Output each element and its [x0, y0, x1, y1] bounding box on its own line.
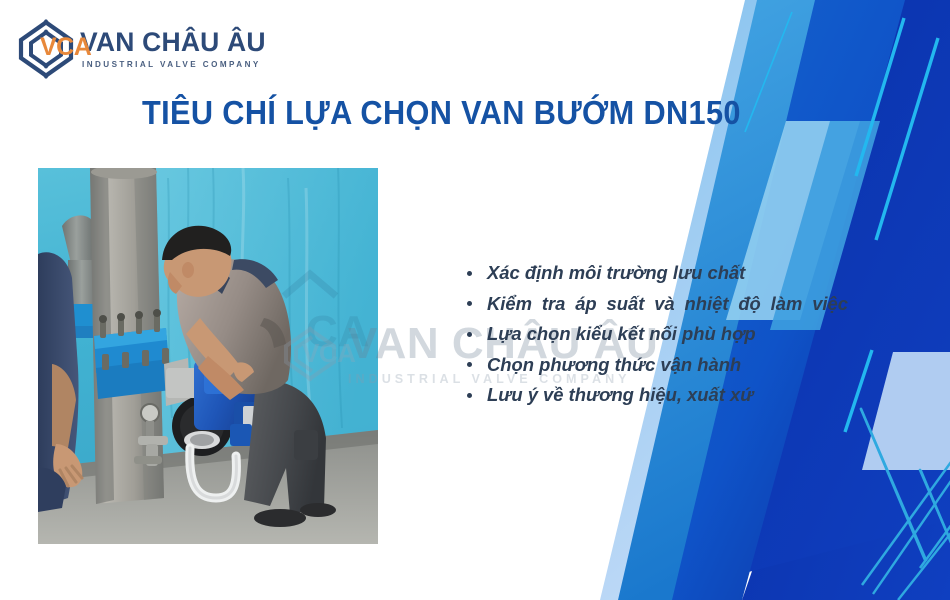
vca-diamond-logo-icon: VCA [14, 18, 76, 80]
logo-wordmark: VAN CHÂU ÂU INDUSTRIAL VALVE COMPANY [80, 29, 266, 69]
ribbon-lower-light [862, 352, 950, 470]
cyan-line-bottom-long [861, 383, 950, 560]
list-item: Lựa chọn kiểu kết nối phù hợp [466, 319, 848, 350]
logo-company-name: VAN CHÂU ÂU [80, 29, 266, 56]
cyan-accent-lines-bottom [863, 352, 950, 528]
list-item: Chọn phương thức vận hành [466, 350, 848, 381]
logo-monogram: VCA [40, 35, 91, 60]
slide-canvas: VCA VAN CHÂU ÂU INDUSTRIAL VALVE COMPANY… [0, 0, 950, 600]
logo-tagline: INDUSTRIAL VALVE COMPANY [82, 61, 266, 69]
brand-logo: VCA VAN CHÂU ÂU INDUSTRIAL VALVE COMPANY [14, 18, 266, 80]
criteria-list: Xác định môi trường lưu chất Kiểm tra áp… [466, 258, 848, 411]
list-item: Xác định môi trường lưu chất [466, 258, 848, 289]
list-item: Lưu ý về thương hiệu, xuất xứ [466, 380, 848, 411]
svg-text:CA: CA [306, 307, 370, 356]
list-item: Kiểm tra áp suất và nhiệt độ làm việc [466, 289, 848, 320]
cyan-accent-lines-lower [873, 430, 950, 600]
installation-photo: CA [38, 168, 378, 544]
page-title: TIÊU CHÍ LỰA CHỌN VAN BƯỚM DN150 [142, 96, 741, 129]
cyan-thin-diagonals-bottom [862, 415, 950, 585]
